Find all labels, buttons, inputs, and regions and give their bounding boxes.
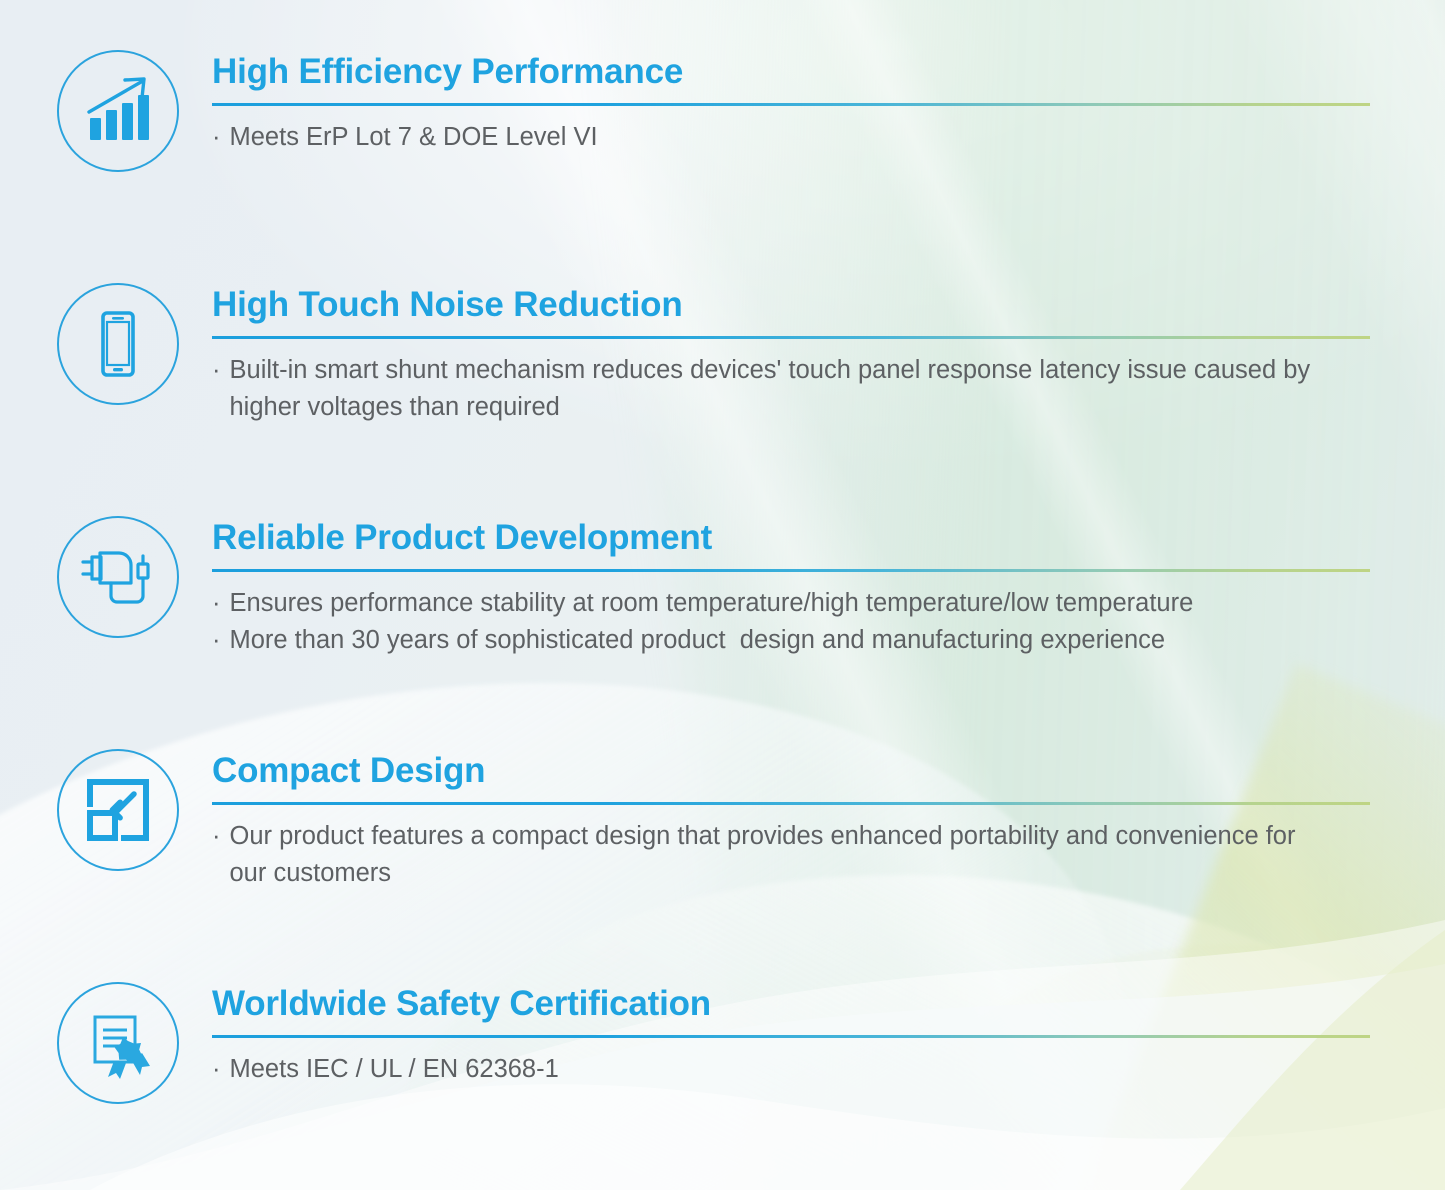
feature-title: High Touch Noise Reduction bbox=[212, 287, 1445, 324]
smartphone-icon bbox=[57, 283, 179, 405]
feature-bullet: · Built-in smart shunt mechanism reduces… bbox=[212, 352, 1372, 427]
feature-bullet: · Ensures performance stability at room … bbox=[212, 585, 1445, 623]
compact-resize-icon bbox=[57, 749, 179, 871]
power-adapter-icon bbox=[57, 516, 179, 638]
feature-bullet-text: Our product features a compact design th… bbox=[230, 818, 1313, 893]
feature-divider bbox=[212, 103, 1370, 106]
feature-text-block: Compact Design · Our product features a … bbox=[212, 749, 1445, 893]
feature-bullet: · Meets IEC / UL / EN 62368-1 bbox=[212, 1051, 1445, 1089]
feature-text-block: Reliable Product Development · Ensures p… bbox=[212, 516, 1445, 660]
feature-text-block: High Efficiency Performance · Meets ErP … bbox=[212, 50, 1445, 156]
feature-bullet-list: · Ensures performance stability at room … bbox=[212, 585, 1445, 660]
feature-bullet-text: Meets IEC / UL / EN 62368-1 bbox=[230, 1051, 559, 1089]
bullet-marker: · bbox=[212, 352, 221, 390]
feature-icon-container bbox=[55, 283, 180, 405]
bullet-marker: · bbox=[212, 119, 221, 157]
feature-bullet-text: More than 30 years of sophisticated prod… bbox=[230, 622, 1166, 660]
feature-bullet-list: · Meets IEC / UL / EN 62368-1 bbox=[212, 1051, 1445, 1089]
feature-title: High Efficiency Performance bbox=[212, 54, 1445, 91]
feature-divider bbox=[212, 802, 1370, 805]
feature-bullet-list: · Built-in smart shunt mechanism reduces… bbox=[212, 352, 1445, 427]
feature-item-high-efficiency-performance: High Efficiency Performance · Meets ErP … bbox=[0, 50, 1445, 172]
feature-item-high-touch-noise-reduction: High Touch Noise Reduction · Built-in sm… bbox=[0, 283, 1445, 427]
feature-bullet-text: Ensures performance stability at room te… bbox=[230, 585, 1194, 623]
feature-icon-container bbox=[55, 516, 180, 638]
feature-item-compact-design: Compact Design · Our product features a … bbox=[0, 749, 1445, 893]
feature-bullet-text: Meets ErP Lot 7 & DOE Level VI bbox=[230, 119, 598, 157]
feature-bullet-text: Built-in smart shunt mechanism reduces d… bbox=[230, 352, 1373, 427]
feature-bullet-list: · Our product features a compact design … bbox=[212, 818, 1445, 893]
bullet-marker: · bbox=[212, 585, 221, 623]
bullet-marker: · bbox=[212, 1051, 221, 1089]
feature-item-worldwide-safety-certification: Worldwide Safety Certification · Meets I… bbox=[0, 982, 1445, 1104]
feature-item-reliable-product-development: Reliable Product Development · Ensures p… bbox=[0, 516, 1445, 660]
feature-text-block: High Touch Noise Reduction · Built-in sm… bbox=[212, 283, 1445, 427]
feature-icon-container bbox=[55, 982, 180, 1104]
feature-text-block: Worldwide Safety Certification · Meets I… bbox=[212, 982, 1445, 1088]
bar-chart-growth-icon bbox=[57, 50, 179, 172]
feature-list: High Efficiency Performance · Meets ErP … bbox=[0, 0, 1445, 1190]
feature-bullet: · More than 30 years of sophisticated pr… bbox=[212, 622, 1445, 660]
feature-bullet: · Our product features a compact design … bbox=[212, 818, 1312, 893]
feature-icon-container bbox=[55, 749, 180, 871]
feature-divider bbox=[212, 1035, 1370, 1038]
feature-divider bbox=[212, 336, 1370, 339]
feature-divider bbox=[212, 569, 1370, 572]
feature-bullet: · Meets ErP Lot 7 & DOE Level VI bbox=[212, 119, 1445, 157]
feature-title: Worldwide Safety Certification bbox=[212, 986, 1445, 1023]
bullet-marker: · bbox=[212, 622, 221, 660]
feature-title: Reliable Product Development bbox=[212, 520, 1445, 557]
bullet-marker: · bbox=[212, 818, 221, 856]
feature-icon-container bbox=[55, 50, 180, 172]
feature-bullet-list: · Meets ErP Lot 7 & DOE Level VI bbox=[212, 119, 1445, 157]
feature-title: Compact Design bbox=[212, 753, 1445, 790]
certificate-award-icon bbox=[57, 982, 179, 1104]
